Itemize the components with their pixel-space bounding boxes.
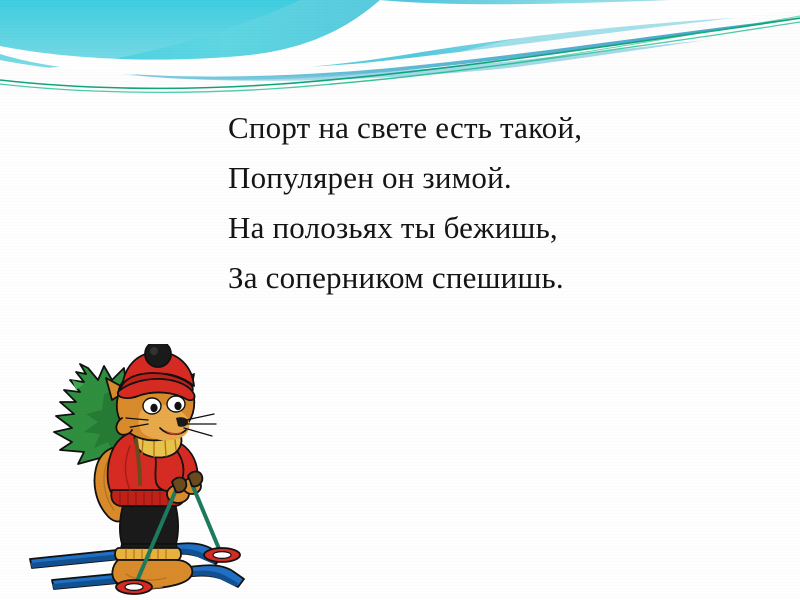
pole-basket-left	[116, 580, 152, 594]
cartoon-cat-skier	[26, 344, 250, 598]
poem-line-1: Спорт на свете есть такой,	[228, 103, 748, 153]
riddle-text: Спорт на свете есть такой, Популярен он …	[228, 103, 748, 303]
decorative-wave-banner	[0, 0, 800, 95]
winter-hat	[118, 344, 195, 400]
slide-canvas: Спорт на свете есть такой, Популярен он …	[0, 0, 800, 600]
poem-line-4: За соперником спешишь.	[228, 253, 748, 303]
poem-line-2: Популярен он зимой.	[228, 153, 748, 203]
poem-line-3: На полозьях ты бежишь,	[228, 203, 748, 253]
pole-basket-right	[204, 548, 240, 562]
